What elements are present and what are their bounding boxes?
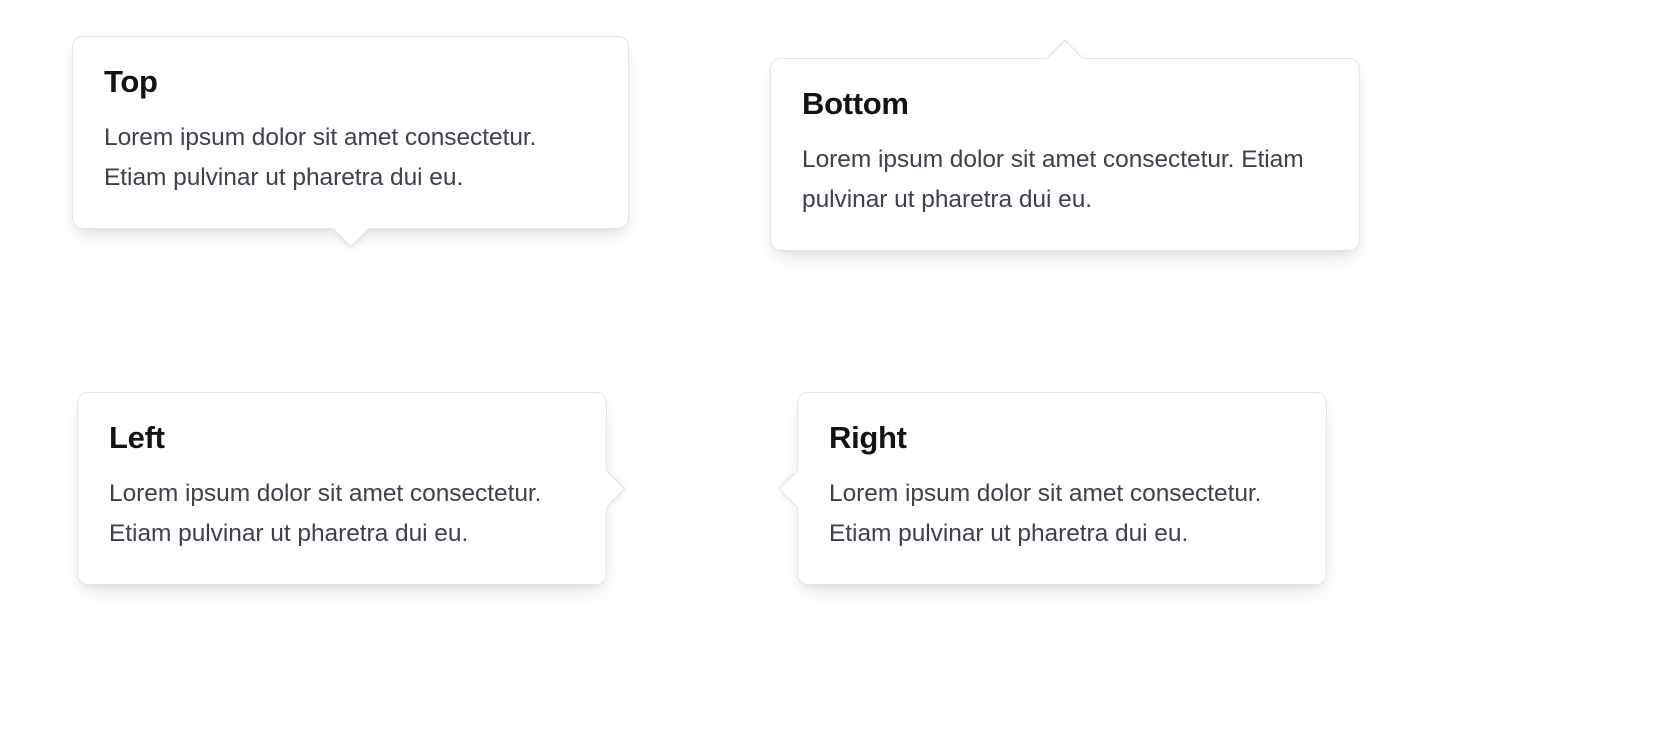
popover-top-body: Lorem ipsum dolor sit amet consectetur. …: [104, 118, 598, 198]
popover-left-title: Left: [109, 419, 576, 457]
popover-top[interactable]: Top Lorem ipsum dolor sit amet consectet…: [72, 36, 629, 229]
popover-bottom-body: Lorem ipsum dolor sit amet consectetur. …: [802, 140, 1329, 220]
popover-bottom[interactable]: Bottom Lorem ipsum dolor sit amet consec…: [770, 58, 1360, 251]
caret-left-icon: [779, 470, 816, 507]
popover-right-body: Lorem ipsum dolor sit amet consectetur. …: [829, 474, 1296, 554]
caret-down-icon: [332, 211, 369, 248]
caret-right-icon: [589, 470, 626, 507]
popover-left-body: Lorem ipsum dolor sit amet consectetur. …: [109, 474, 576, 554]
caret-up-icon: [1047, 40, 1084, 77]
popover-showcase-stage: Top Lorem ipsum dolor sit amet consectet…: [0, 0, 1672, 740]
popover-right-title: Right: [829, 419, 1296, 457]
popover-right[interactable]: Right Lorem ipsum dolor sit amet consect…: [797, 392, 1327, 585]
popover-left[interactable]: Left Lorem ipsum dolor sit amet consecte…: [77, 392, 607, 585]
popover-bottom-title: Bottom: [802, 85, 1329, 123]
popover-top-title: Top: [104, 63, 598, 101]
